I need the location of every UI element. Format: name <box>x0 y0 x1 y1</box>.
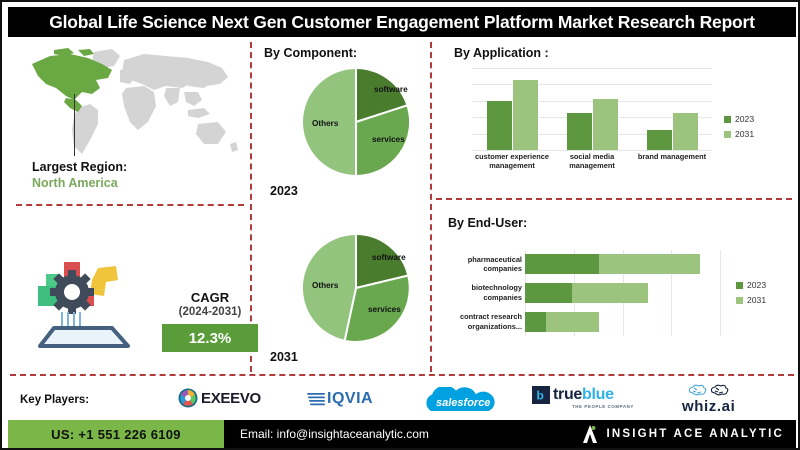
cloud-icon: salesforce <box>406 387 516 415</box>
divider-horizontal-bottom <box>10 374 794 376</box>
category-label: customer experience management <box>472 152 552 171</box>
bar-2023 <box>487 101 512 150</box>
application-chart-legend: 2023 2031 <box>724 114 754 144</box>
divider-horizontal-left <box>16 204 244 206</box>
bar-2031 <box>513 80 538 150</box>
category-label: contract research organizations... <box>434 312 522 331</box>
yellow-shape <box>90 266 118 296</box>
segment-2023 <box>525 283 572 303</box>
cagr-label: CAGR <box>170 290 250 305</box>
enduser-category-labels: pharmaceutical companies biotechnology c… <box>434 250 522 336</box>
brand-block: INSIGHT ACE ANALYTIC <box>582 420 784 448</box>
map-leader-line <box>74 94 75 156</box>
application-bar-chart <box>472 68 712 150</box>
world-map <box>16 44 244 164</box>
pie-chart-2031: software services Others <box>298 230 414 346</box>
stacked-lines-icon <box>307 391 325 407</box>
category-label: brand management <box>632 152 712 171</box>
logo-label-true: true <box>553 386 582 404</box>
page-title: Global Life Science Next Gen Customer En… <box>49 12 755 33</box>
square-b-icon: b <box>532 386 550 404</box>
legend-swatch-2023 <box>724 116 731 123</box>
bar-groups <box>472 68 712 150</box>
logo-tagline: THE PEOPLE COMPANY <box>572 404 634 409</box>
legend-swatch-2031 <box>736 297 743 304</box>
brand-name: INSIGHT ACE ANALYTIC <box>606 428 784 440</box>
enduser-chart-legend: 2023 2031 <box>736 280 766 310</box>
divider-horizontal-right <box>436 198 792 200</box>
pie-label-software: software <box>374 85 408 94</box>
logo-label-blue: blue <box>582 386 614 404</box>
cagr-period: (2024-2031) <box>170 306 250 318</box>
pie-label-software: software <box>372 253 406 262</box>
logo-label: whiz.ai <box>682 398 735 415</box>
segment-2031 <box>546 312 599 332</box>
svg-text:b: b <box>537 389 544 403</box>
logo-label: salesforce <box>436 397 490 409</box>
footer-email: Email: info@insightaceanalytic.com <box>240 427 429 441</box>
logo-whizai: whiz.ai <box>682 384 735 415</box>
cagr-caption: CAGR (2024-2031) <box>170 290 250 318</box>
legend-item-2023: 2023 <box>736 280 766 290</box>
application-category-labels: customer experience management social me… <box>472 152 712 171</box>
pie-label-services: services <box>372 135 405 144</box>
segment-2023 <box>525 254 599 274</box>
bar-group <box>472 68 552 150</box>
key-players-label: Key Players: <box>20 394 89 406</box>
infographic-page: Global Life Science Next Gen Customer En… <box>0 0 800 450</box>
category-label: social media management <box>552 152 632 171</box>
footer-phone-block: US: +1 551 226 6109 <box>8 420 224 448</box>
divider-vertical-left <box>250 42 252 372</box>
legend-item-2031: 2031 <box>736 295 766 305</box>
pie-label-others: Others <box>312 119 339 128</box>
cagr-value: 12.3% <box>189 330 232 347</box>
section-header-enduser: By End-User: <box>448 216 527 230</box>
largest-region-label: Largest Region: <box>32 160 127 174</box>
pie-year-2023: 2023 <box>270 184 298 198</box>
legend-item-2023: 2023 <box>724 114 754 124</box>
divider-vertical-right <box>430 42 432 372</box>
tablet-icon <box>40 328 128 346</box>
logo-exeevo: EXEEVO <box>178 388 261 408</box>
stacked-bar-row <box>525 312 720 332</box>
pie-label-services: services <box>368 305 401 314</box>
legend-label-2023: 2023 <box>747 280 766 290</box>
pie-year-2031: 2031 <box>270 350 298 364</box>
gear-icon <box>50 270 94 314</box>
bar-2031 <box>673 113 698 150</box>
pinwheel-icon <box>178 388 198 408</box>
legend-item-2031: 2031 <box>724 129 754 139</box>
brain-icon <box>686 384 732 398</box>
legend-label-2031: 2031 <box>735 129 754 139</box>
section-header-application: By Application : <box>454 46 549 60</box>
bar-2023 <box>647 130 672 151</box>
segment-2031 <box>599 254 700 274</box>
section-header-component: By Component: <box>264 46 357 60</box>
pie-label-others: Others <box>312 281 339 290</box>
cagr-illustration <box>20 242 160 357</box>
category-label: pharmaceutical companies <box>434 255 522 274</box>
insight-ace-a-logo-icon <box>582 424 598 444</box>
legend-label-2023: 2023 <box>735 114 754 124</box>
segment-2031 <box>572 283 648 303</box>
bar-group <box>632 68 712 150</box>
stacked-bar-row <box>525 283 720 303</box>
largest-region-value: North America <box>32 176 118 190</box>
report-title-bar: Global Life Science Next Gen Customer En… <box>8 7 796 37</box>
logo-label: EXEEVO <box>201 390 261 407</box>
bar-2023 <box>567 113 592 150</box>
cagr-badge: 12.3% <box>162 324 258 352</box>
legend-label-2031: 2031 <box>747 295 766 305</box>
category-label: biotechnology companies <box>434 283 522 302</box>
logo-label: IQVIA <box>327 390 373 408</box>
logo-salesforce: salesforce <box>406 387 516 415</box>
logo-trueblue: b trueblue THE PEOPLE COMPANY <box>532 386 634 409</box>
legend-swatch-2031 <box>724 131 731 138</box>
logo-iqvia: IQVIA <box>307 390 373 408</box>
bar-group <box>552 68 632 150</box>
bar-2031 <box>593 99 618 150</box>
enduser-bar-chart <box>525 250 720 336</box>
footer-phone: US: +1 551 226 6109 <box>51 427 181 442</box>
pie-chart-2023: software services Others <box>298 64 414 180</box>
stacked-bar-row <box>525 254 720 274</box>
segment-2023 <box>525 312 546 332</box>
bar-rows <box>525 250 720 336</box>
legend-swatch-2023 <box>736 282 743 289</box>
